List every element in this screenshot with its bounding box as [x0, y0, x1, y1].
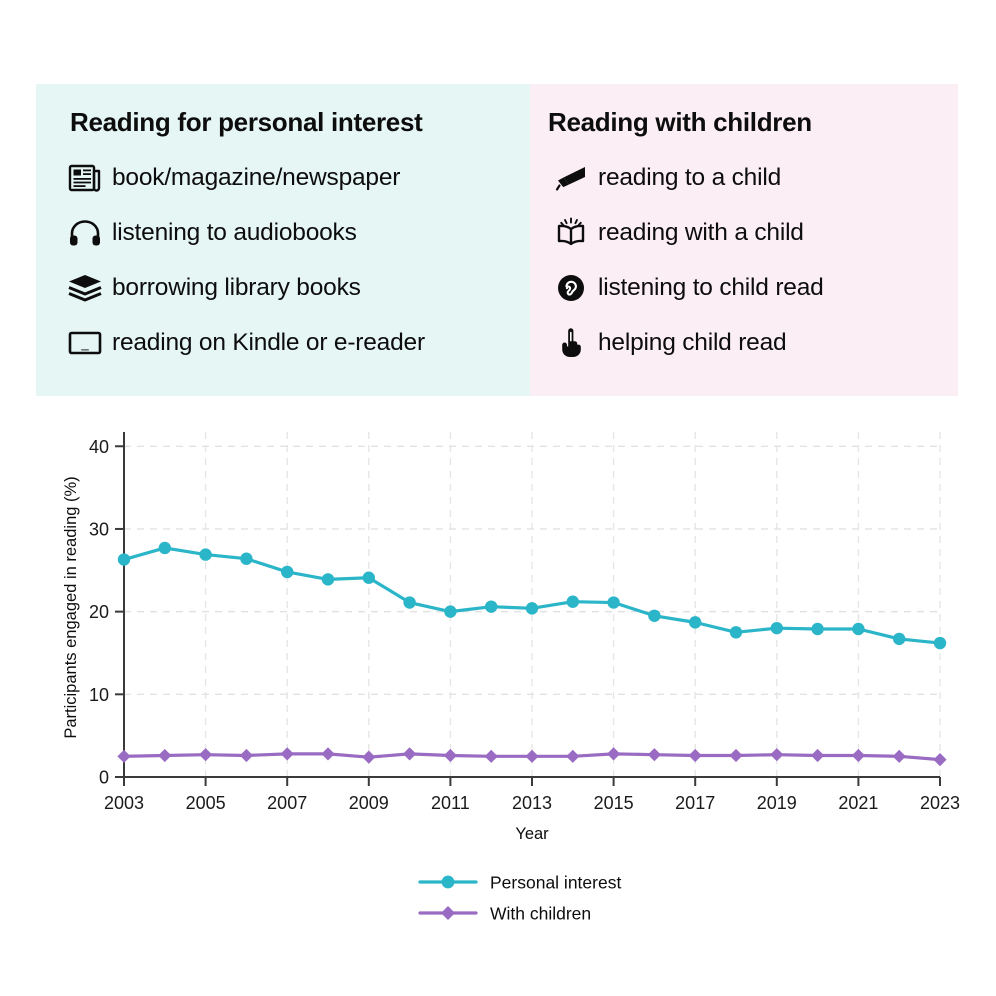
data-point[interactable]	[158, 749, 171, 762]
data-point[interactable]	[485, 600, 497, 612]
data-point[interactable]	[199, 748, 212, 761]
x-tick-label: 2005	[186, 793, 226, 813]
data-point[interactable]	[240, 553, 252, 565]
data-point[interactable]	[689, 749, 702, 762]
newspaper-icon	[58, 163, 112, 193]
data-point[interactable]	[199, 548, 211, 560]
chart-axis-titles: YearParticipants engaged in reading (%)	[62, 476, 549, 843]
key-label: listening to audiobooks	[112, 219, 357, 247]
data-point[interactable]	[893, 750, 906, 763]
y-tick-label: 0	[99, 768, 109, 788]
key-label: listening to child read	[598, 274, 824, 302]
x-tick-label: 2023	[920, 793, 960, 813]
pointing-hand-icon	[544, 328, 598, 358]
x-axis-title: Year	[515, 825, 549, 843]
y-tick-label: 10	[89, 685, 109, 705]
key-item-helping-child-read: helping child read	[544, 316, 958, 371]
data-point[interactable]	[117, 750, 130, 763]
key-label: reading on Kindle or e-reader	[112, 329, 425, 357]
legend-label[interactable]: With children	[490, 904, 591, 924]
data-point[interactable]	[362, 751, 375, 764]
data-point[interactable]	[363, 572, 375, 584]
data-point[interactable]	[526, 602, 538, 614]
key-label: helping child read	[598, 329, 786, 357]
data-point[interactable]	[444, 749, 457, 762]
data-point[interactable]	[118, 553, 130, 565]
key-label: borrowing library books	[112, 274, 361, 302]
data-point[interactable]	[852, 749, 865, 762]
x-tick-label: 2021	[838, 793, 878, 813]
data-point[interactable]	[934, 637, 946, 649]
book-stack-icon	[58, 273, 112, 303]
panel-title-personal-interest: Reading for personal interest	[58, 108, 530, 137]
key-label: reading with a child	[598, 219, 804, 247]
data-point[interactable]	[159, 542, 171, 554]
e-reader-icon	[58, 328, 112, 358]
headphones-icon	[58, 218, 112, 248]
y-tick-label: 30	[89, 519, 109, 539]
data-point[interactable]	[566, 750, 579, 763]
panel-title-with-children: Reading with children	[544, 108, 958, 137]
data-point[interactable]	[771, 622, 783, 634]
data-point[interactable]	[281, 747, 294, 760]
legend-marker	[441, 906, 455, 920]
data-point[interactable]	[811, 749, 824, 762]
y-tick-label: 40	[89, 437, 109, 457]
data-point[interactable]	[648, 748, 661, 761]
x-tick-label: 2003	[104, 793, 144, 813]
x-tick-label: 2007	[267, 793, 307, 813]
key-label: book/magazine/newspaper	[112, 164, 400, 192]
data-point[interactable]	[240, 749, 253, 762]
x-tick-label: 2017	[675, 793, 715, 813]
data-point[interactable]	[403, 747, 416, 760]
data-point[interactable]	[852, 623, 864, 635]
data-point[interactable]	[485, 750, 498, 763]
key-item-book-magazine-newspaper: book/magazine/newspaper	[58, 151, 530, 206]
data-point[interactable]	[933, 753, 946, 766]
x-tick-label: 2009	[349, 793, 389, 813]
key-list-with-children: reading to a child reading with a child	[544, 151, 958, 371]
key-item-borrowing-library-books: borrowing library books	[58, 261, 530, 316]
data-point[interactable]	[567, 596, 579, 608]
panel-personal-interest: Reading for personal interest	[36, 84, 530, 396]
reading-statistics-infographic: Reading for personal interest	[0, 0, 996, 996]
category-key-panels: Reading for personal interest	[36, 84, 958, 396]
x-tick-label: 2015	[594, 793, 634, 813]
key-label: reading to a child	[598, 164, 781, 192]
legend-marker	[442, 876, 455, 889]
data-point[interactable]	[811, 623, 823, 635]
data-point[interactable]	[648, 610, 660, 622]
data-point[interactable]	[689, 616, 701, 628]
megaphone-icon	[544, 163, 598, 193]
data-point[interactable]	[770, 748, 783, 761]
x-tick-label: 2019	[757, 793, 797, 813]
ear-icon	[544, 273, 598, 303]
chart-canvas: 0102030402003200520072009201120132015201…	[0, 404, 996, 964]
chart-legend: Personal interestWith children	[420, 873, 621, 924]
key-item-reading-with-a-child: reading with a child	[544, 206, 958, 261]
reading-trend-chart: 0102030402003200520072009201120132015201…	[0, 404, 996, 964]
data-point[interactable]	[403, 596, 415, 608]
key-list-personal-interest: book/magazine/newspaper listening to aud…	[58, 151, 530, 371]
key-item-reading-to-a-child: reading to a child	[544, 151, 958, 206]
data-point[interactable]	[607, 747, 620, 760]
legend-label[interactable]: Personal interest	[490, 873, 621, 893]
key-item-reading-on-kindle: reading on Kindle or e-reader	[58, 316, 530, 371]
data-point[interactable]	[729, 749, 742, 762]
data-point[interactable]	[321, 747, 334, 760]
y-axis-title: Participants engaged in reading (%)	[62, 476, 80, 738]
x-tick-label: 2011	[431, 793, 470, 813]
open-book-sparkle-icon	[544, 217, 598, 249]
data-point[interactable]	[730, 626, 742, 638]
x-tick-label: 2013	[512, 793, 552, 813]
panel-with-children: Reading with children reading to a child	[530, 84, 958, 396]
y-tick-label: 20	[89, 602, 109, 622]
data-point[interactable]	[607, 596, 619, 608]
data-point[interactable]	[893, 633, 905, 645]
key-item-listening-to-child-read: listening to child read	[544, 261, 958, 316]
key-item-listening-to-audiobooks: listening to audiobooks	[58, 206, 530, 261]
data-point[interactable]	[525, 750, 538, 763]
data-point[interactable]	[281, 566, 293, 578]
data-point[interactable]	[322, 573, 334, 585]
data-point[interactable]	[444, 605, 456, 617]
